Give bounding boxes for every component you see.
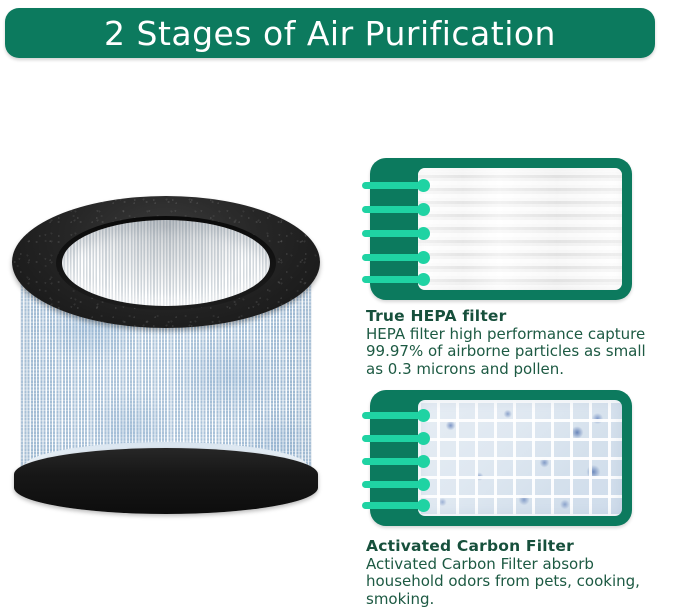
pin-marker-2 [362,435,426,442]
hepa-filter-panel [370,158,632,300]
pin-marker-5 [362,502,426,509]
hepa-description-line-1: HEPA filter high performance capture [366,326,666,343]
pin-dot-icon [417,251,430,264]
pin-dot-icon [417,227,430,240]
pin-dot-icon [417,432,430,445]
filter-base-ring [14,448,318,514]
pin-dot-icon [417,478,430,491]
hepa-text-block: True HEPA filter HEPA filter high perfor… [366,308,666,378]
carbon-description-line-3: smoking. [366,591,666,608]
header-banner: 2 Stages of Air Purification [5,8,655,58]
pin-dot-icon [417,409,430,422]
carbon-title: Activated Carbon Filter [366,538,666,555]
pin-dot-icon [417,273,430,286]
hepa-filter-swatch [418,168,622,290]
pin-marker-3 [362,230,426,237]
carbon-description: Activated Carbon Filter absorb household… [366,556,666,607]
carbon-filter-swatch [418,400,622,516]
pin-marker-1 [362,182,426,189]
filter-hepa-pleats [62,220,270,306]
carbon-description-line-1: Activated Carbon Filter absorb [366,556,666,573]
carbon-filter-panel [370,390,632,526]
hepa-description-line-2: 99.97% of airborne particles as small [366,343,666,360]
pin-marker-4 [362,254,426,261]
pin-marker-2 [362,206,426,213]
product-photo-air-filter [8,186,324,526]
pin-dot-icon [417,455,430,468]
pin-marker-4 [362,481,426,488]
page-title: 2 Stages of Air Purification [5,8,655,58]
hepa-description-line-3: as 0.3 microns and pollen. [366,361,666,378]
pin-dot-icon [417,499,430,512]
pin-marker-5 [362,276,426,283]
hepa-title: True HEPA filter [366,308,666,325]
carbon-text-block: Activated Carbon Filter Activated Carbon… [366,538,666,608]
hepa-description: HEPA filter high performance capture 99.… [366,326,666,377]
carbon-description-line-2: household odors from pets, cooking, [366,573,666,590]
pin-marker-1 [362,412,426,419]
pin-dot-icon [417,203,430,216]
pin-dot-icon [417,179,430,192]
pin-marker-3 [362,458,426,465]
